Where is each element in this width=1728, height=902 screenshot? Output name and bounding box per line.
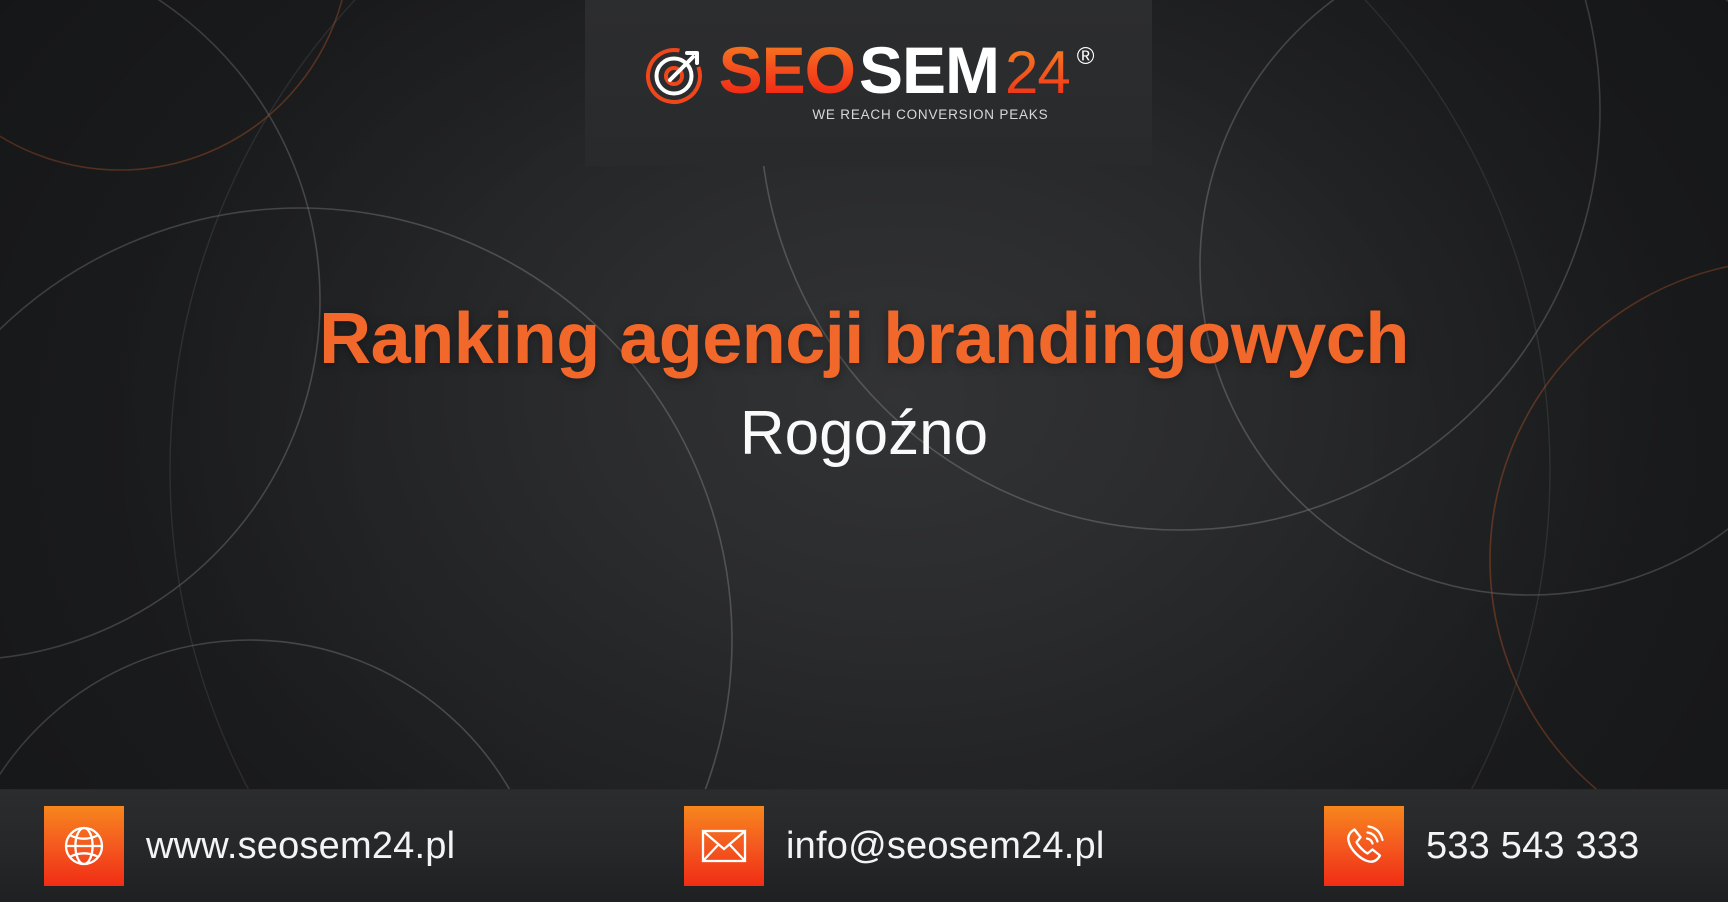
hero-block: Ranking agencji brandingowych Rogoźno: [0, 300, 1728, 466]
phone-icon: [1324, 806, 1404, 886]
globe-icon: [44, 806, 124, 886]
page-title: Ranking agencji brandingowych: [0, 300, 1728, 379]
registered-mark-icon: ®: [1077, 45, 1095, 69]
footer-item-email[interactable]: info@seosem24.pl: [684, 806, 1324, 886]
logo-panel: SEO SEM 24 ® WE REACH CONVERSION PEAKS: [585, 0, 1152, 166]
phone-label: 533 543 333: [1426, 825, 1640, 868]
contact-footer: www.seosem24.pl info@seosem24.pl: [0, 789, 1728, 902]
website-label: www.seosem24.pl: [146, 825, 455, 868]
footer-item-website[interactable]: www.seosem24.pl: [44, 806, 684, 886]
logo-word-seo: SEO: [719, 37, 855, 103]
logo-word-24: 24: [1005, 43, 1070, 103]
email-label: info@seosem24.pl: [786, 825, 1105, 868]
logo-lockup: SEO SEM 24 ® WE REACH CONVERSION PEAKS: [643, 37, 1095, 122]
target-dart-icon: [643, 45, 705, 107]
slide-canvas: SEO SEM 24 ® WE REACH CONVERSION PEAKS R…: [0, 0, 1728, 902]
logo-wordmark: SEO SEM 24 ® WE REACH CONVERSION PEAKS: [719, 37, 1095, 122]
logo-word-sem: SEM: [859, 37, 999, 103]
envelope-icon: [684, 806, 764, 886]
logo-tagline: WE REACH CONVERSION PEAKS: [812, 107, 1048, 122]
footer-item-phone[interactable]: 533 543 333: [1324, 806, 1684, 886]
page-subtitle: Rogoźno: [0, 401, 1728, 466]
